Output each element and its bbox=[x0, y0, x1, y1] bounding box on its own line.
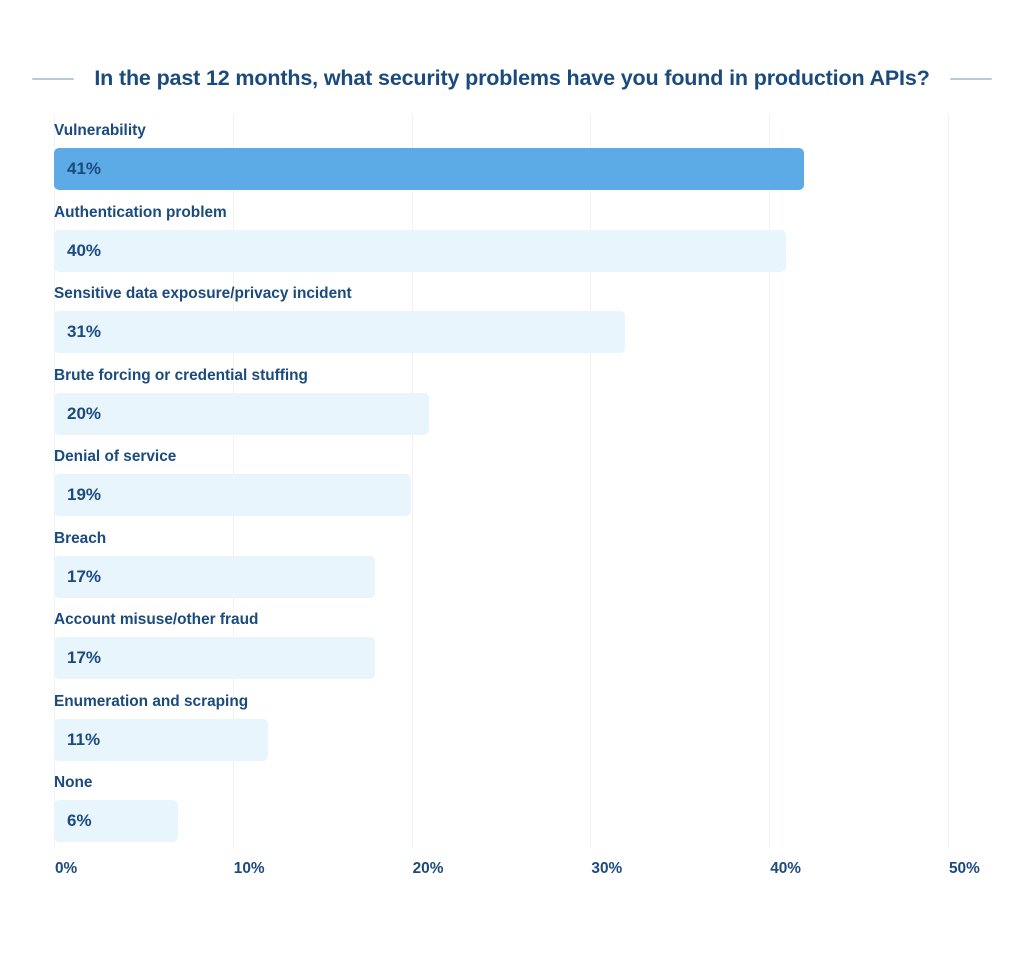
chart-row: Denial of service19% bbox=[54, 440, 948, 522]
category-label: Sensitive data exposure/privacy incident bbox=[54, 277, 352, 311]
chart-row: Account misuse/other fraud17% bbox=[54, 603, 948, 685]
bar-container: 19% bbox=[54, 474, 948, 516]
bar-value-label: 6% bbox=[67, 800, 92, 842]
bar[interactable] bbox=[54, 393, 429, 435]
gridline-50 bbox=[948, 114, 949, 848]
bar-container: 11% bbox=[54, 719, 948, 761]
bar-value-label: 11% bbox=[67, 719, 100, 761]
bar[interactable] bbox=[54, 311, 625, 353]
category-label: Enumeration and scraping bbox=[54, 685, 248, 719]
x-axis-tick-label: 50% bbox=[949, 860, 980, 878]
category-label: Denial of service bbox=[54, 440, 176, 474]
bar-container: 31% bbox=[54, 311, 948, 353]
x-axis-tick-label: 20% bbox=[413, 860, 444, 878]
bar-value-label: 19% bbox=[67, 474, 101, 516]
chart-card: In the past 12 months, what security pro… bbox=[0, 0, 1024, 954]
x-axis-tick-label: 40% bbox=[770, 860, 801, 878]
plot-area: Vulnerability41%Authentication problem40… bbox=[54, 114, 948, 848]
category-label: Authentication problem bbox=[54, 196, 227, 230]
bar-value-label: 17% bbox=[67, 637, 101, 679]
category-label: Vulnerability bbox=[54, 114, 146, 148]
title-rule-left-decoration bbox=[32, 78, 74, 80]
x-axis: 0%10%20%30%40%50% bbox=[54, 860, 948, 888]
bar-value-label: 41% bbox=[67, 148, 101, 190]
bar[interactable] bbox=[54, 637, 375, 679]
bar-value-label: 40% bbox=[67, 230, 101, 272]
chart-title-row: In the past 12 months, what security pro… bbox=[0, 58, 1024, 100]
bar-container: 17% bbox=[54, 556, 948, 598]
x-axis-tick-label: 0% bbox=[55, 860, 77, 878]
chart-row: None6% bbox=[54, 766, 948, 848]
bar-container: 40% bbox=[54, 230, 948, 272]
category-label: Account misuse/other fraud bbox=[54, 603, 258, 637]
category-label: None bbox=[54, 766, 92, 800]
category-label: Brute forcing or credential stuffing bbox=[54, 359, 308, 393]
page-title: In the past 12 months, what security pro… bbox=[94, 68, 929, 90]
chart-row: Brute forcing or credential stuffing20% bbox=[54, 359, 948, 441]
category-label: Breach bbox=[54, 522, 106, 556]
chart-row: Breach17% bbox=[54, 522, 948, 604]
bar[interactable] bbox=[54, 474, 411, 516]
chart-row: Sensitive data exposure/privacy incident… bbox=[54, 277, 948, 359]
bar-container: 20% bbox=[54, 393, 948, 435]
bar-container: 6% bbox=[54, 800, 948, 842]
bar[interactable] bbox=[54, 230, 786, 272]
chart-row: Authentication problem40% bbox=[54, 196, 948, 278]
x-axis-tick-label: 30% bbox=[591, 860, 622, 878]
bar[interactable] bbox=[54, 556, 375, 598]
bar[interactable] bbox=[54, 148, 804, 190]
bar-value-label: 31% bbox=[67, 311, 101, 353]
bar-value-label: 20% bbox=[67, 393, 101, 435]
title-rule-right-decoration bbox=[950, 78, 992, 80]
x-axis-tick-label: 10% bbox=[234, 860, 265, 878]
bar-container: 41% bbox=[54, 148, 948, 190]
bar-value-label: 17% bbox=[67, 556, 101, 598]
chart-row: Enumeration and scraping11% bbox=[54, 685, 948, 767]
chart-row: Vulnerability41% bbox=[54, 114, 948, 196]
bar-container: 17% bbox=[54, 637, 948, 679]
